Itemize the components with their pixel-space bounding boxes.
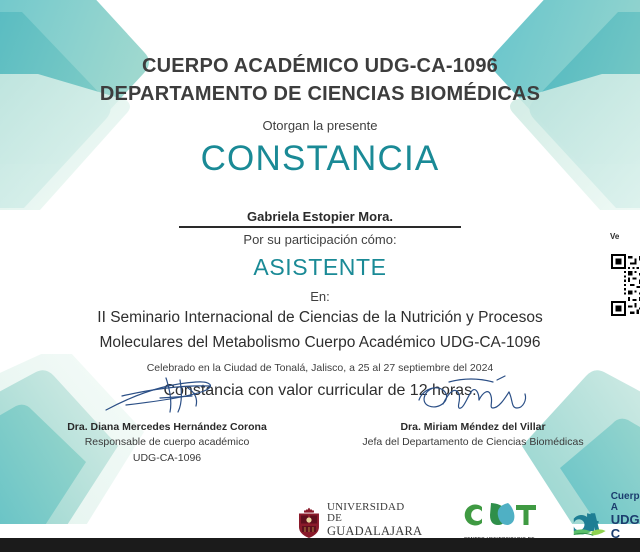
footer-logos: UNIVERSIDAD DE GUADALAJARA Red Universit…: [296, 492, 640, 538]
signature-role-right-line-1: Jefa del Departamento de Ciencias Bioméd…: [323, 435, 623, 449]
ca-logo-text-1: Cuerpo A: [611, 492, 640, 513]
universidad-de-guadalajara-logo: UNIVERSIDAD DE GUADALAJARA Red Universit…: [296, 502, 422, 538]
event-title-line-2: Moleculares del Metabolismo Cuerpo Acadé…: [0, 332, 640, 354]
event-title-line-1: II Seminario Internacional de Ciencias d…: [0, 307, 640, 329]
signature-name-right: Dra. Miriam Méndez del Villar: [323, 421, 623, 433]
cuerpo-academico-logo: Cuerpo A UDG-C CIENCIAS DE LA N MOLECULA…: [572, 492, 640, 538]
signature-name-left: Dra. Diana Mercedes Hernández Corona: [17, 421, 317, 433]
verification-caption: Ve: [610, 232, 640, 241]
recipient-name: Gabriela Estopier Mora.: [179, 209, 461, 224]
grant-line: Otorgan la presente: [0, 118, 640, 133]
signature-section: Dra. Diana Mercedes Hernández Corona Res…: [0, 372, 640, 465]
udg-crest-icon: [296, 507, 322, 538]
certificate-page: CUERPO ACADÉMICO UDG-CA-1096 DEPARTAMENT…: [0, 0, 640, 538]
header-line-1: CUERPO ACADÉMICO UDG-CA-1096: [0, 53, 640, 79]
ca-logo-text-2: UDG-C: [611, 513, 640, 538]
role-prefix-label: Por su participación cómo:: [0, 232, 640, 247]
viewer-background-bar: [0, 538, 640, 552]
header-line-2: DEPARTAMENTO DE CIENCIAS BIOMÉDICAS: [0, 81, 640, 107]
signature-mark-icon: [323, 372, 623, 420]
signature-block-left: Dra. Diana Mercedes Hernández Corona Res…: [17, 372, 317, 465]
udg-logo-text-2: GUADALAJARA: [327, 525, 422, 538]
signature-role-left-line-2: UDG-CA-1096: [17, 451, 317, 465]
participation-role: ASISTENTE: [0, 254, 640, 281]
centro-universitario-de-tonala-logo: CENTRO UNIVERSITARIO DE TONALÁ: [458, 500, 540, 538]
document-type-title: CONSTANCIA: [0, 141, 640, 178]
document-viewport: CUERPO ACADÉMICO UDG-CA-1096 DEPARTAMENT…: [0, 0, 640, 552]
event-label: En:: [0, 289, 640, 304]
recipient-name-field: Gabriela Estopier Mora.: [0, 209, 640, 228]
qr-code-icon[interactable]: [603, 254, 640, 321]
certificate-content: CUERPO ACADÉMICO UDG-CA-1096 DEPARTAMENT…: [0, 0, 640, 400]
cut-wordmark-icon: [458, 500, 540, 530]
verification-block: Ve: [601, 232, 640, 321]
signature-mark-icon: [17, 372, 317, 420]
udg-logo-text-1: UNIVERSIDAD DE: [327, 502, 422, 524]
ca-book-icon: [572, 506, 607, 538]
signature-role-left-line-1: Responsable de cuerpo académico: [17, 435, 317, 449]
signature-block-right: Dra. Miriam Méndez del Villar Jefa del D…: [323, 372, 623, 465]
